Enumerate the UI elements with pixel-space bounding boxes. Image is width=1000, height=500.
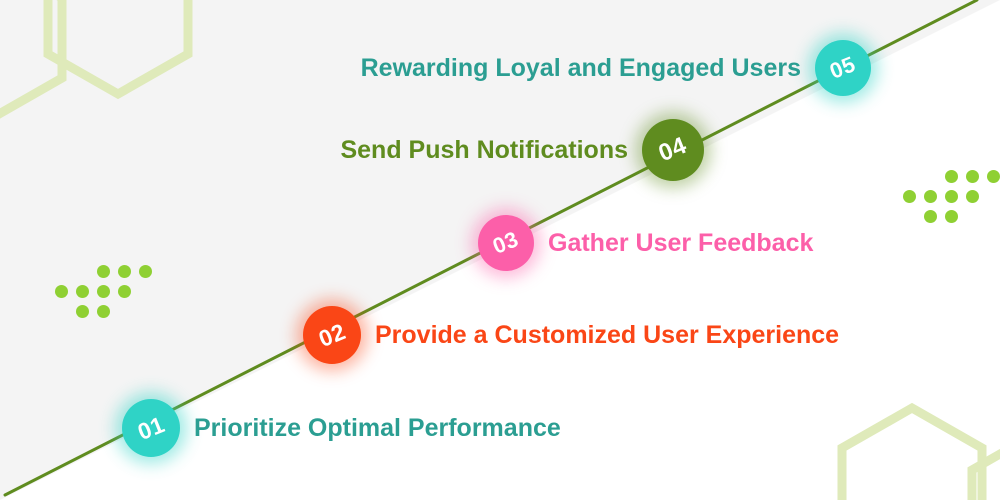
milestone-01[interactable]: 01Prioritize Optimal Performance bbox=[122, 396, 561, 460]
milestone-marker-02[interactable]: 02 bbox=[303, 306, 361, 364]
milestone-marker-03[interactable]: 03 bbox=[478, 215, 534, 271]
milestone-number: 01 bbox=[134, 412, 167, 443]
milestone-04[interactable]: 04Send Push Notifications bbox=[340, 118, 704, 182]
milestone-03[interactable]: 03Gather User Feedback bbox=[478, 211, 813, 275]
milestone-label: Gather User Feedback bbox=[548, 231, 813, 256]
milestone-label: Send Push Notifications bbox=[340, 138, 628, 163]
milestone-number: 05 bbox=[827, 53, 859, 83]
milestone-number: 03 bbox=[490, 228, 522, 258]
milestone-label: Rewarding Loyal and Engaged Users bbox=[361, 56, 801, 81]
milestone-number: 04 bbox=[656, 134, 691, 167]
milestone-label: Prioritize Optimal Performance bbox=[194, 416, 561, 441]
milestone-marker-04[interactable]: 04 bbox=[642, 119, 704, 181]
milestone-marker-05[interactable]: 05 bbox=[815, 40, 871, 96]
milestone-02[interactable]: 02Provide a Customized User Experience bbox=[303, 303, 839, 367]
milestone-05[interactable]: 05Rewarding Loyal and Engaged Users bbox=[361, 36, 871, 100]
milestone-marker-01[interactable]: 01 bbox=[122, 399, 180, 457]
milestone-number: 02 bbox=[315, 319, 348, 350]
milestone-label: Provide a Customized User Experience bbox=[375, 323, 839, 348]
infographic-canvas: 05Rewarding Loyal and Engaged Users04Sen… bbox=[0, 0, 1000, 500]
